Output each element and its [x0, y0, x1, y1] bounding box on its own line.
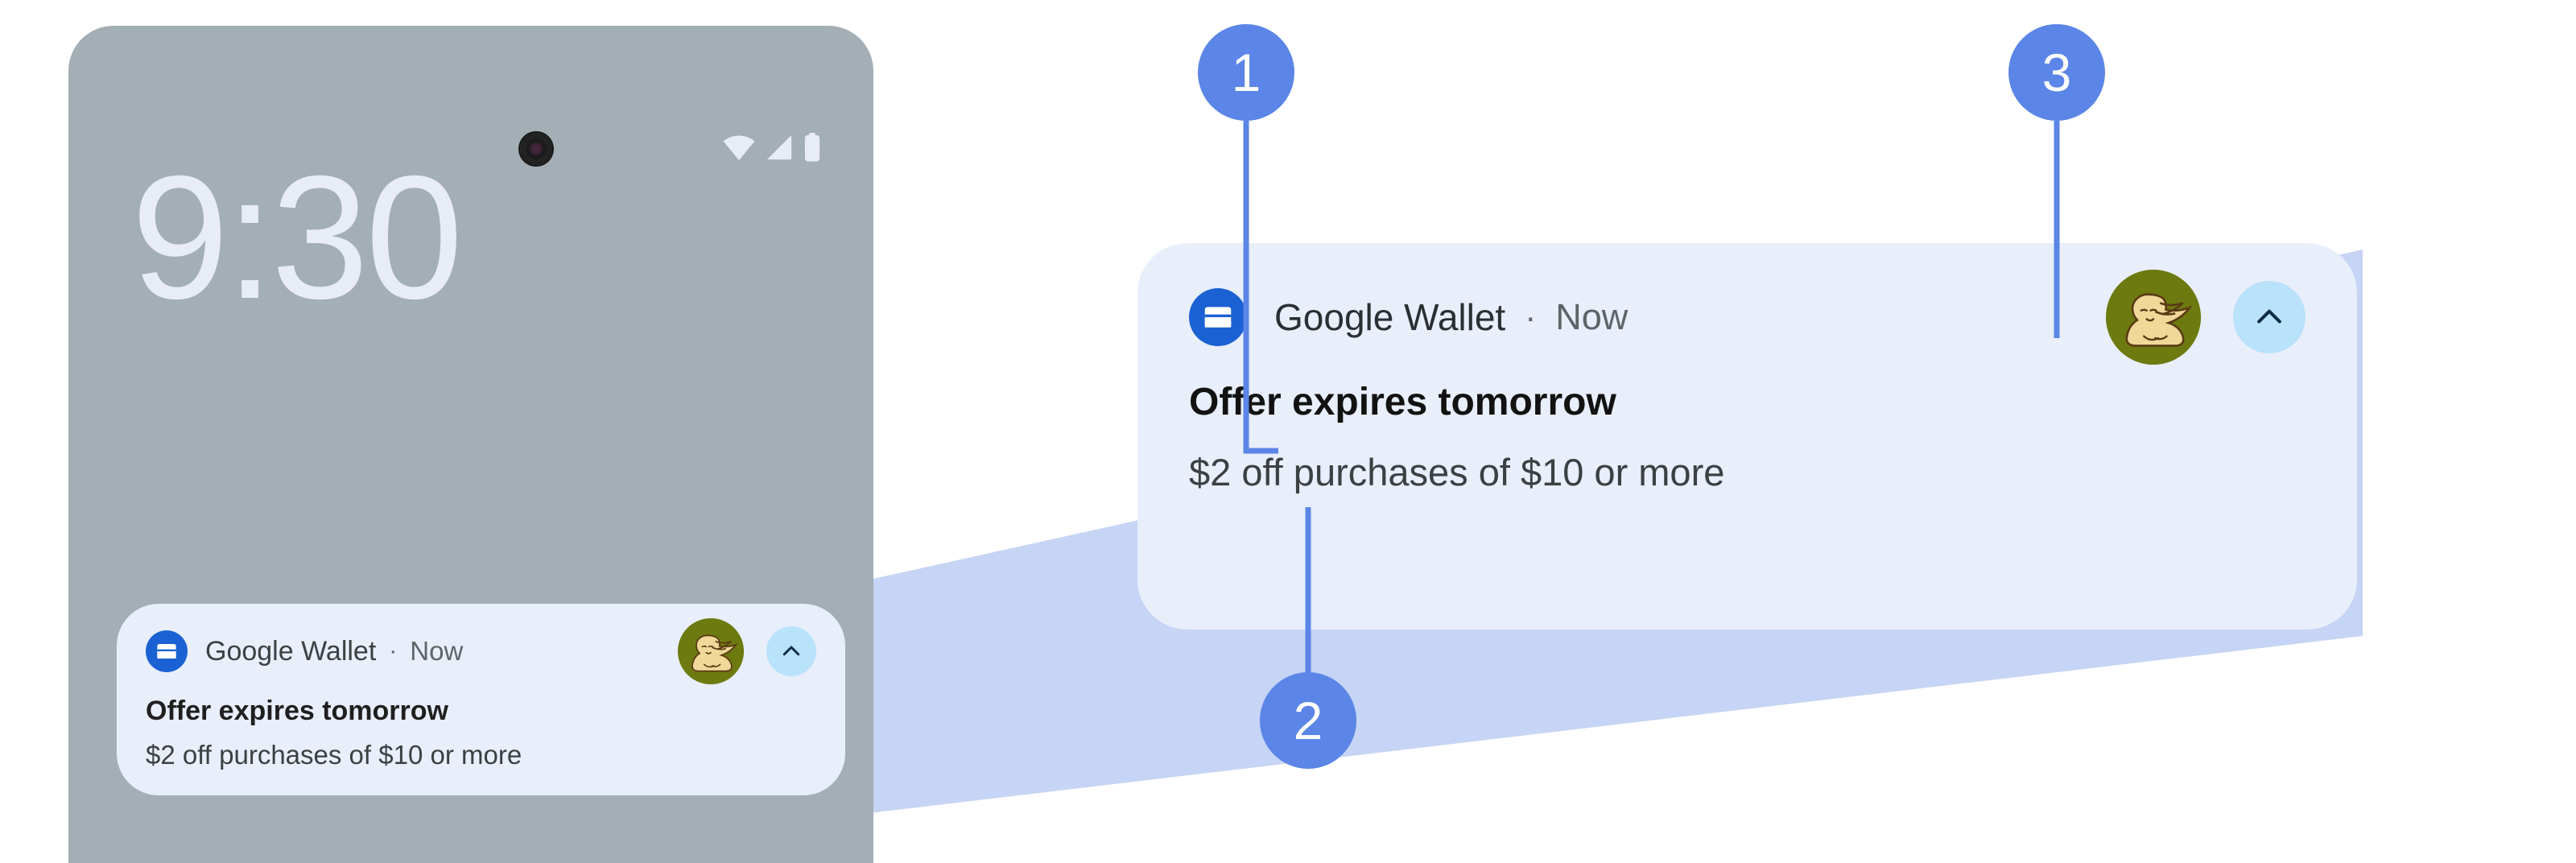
notification-title: Offer expires tomorrow [146, 696, 816, 727]
phone-device: 9:30 Google Wallet · Now [68, 26, 873, 863]
chevron-up-icon [2252, 299, 2287, 335]
notification-header-enlarged: Google Wallet · Now [1189, 287, 2306, 348]
merchant-avatar [678, 618, 744, 684]
notification-timestamp: Now [1555, 296, 1628, 338]
expand-notification-button[interactable] [2233, 281, 2306, 353]
notification-card-enlarged[interactable]: Google Wallet · Now [1137, 243, 2357, 630]
front-camera-punch-hole-icon [520, 133, 552, 165]
notification-timestamp: Now [410, 636, 463, 667]
google-wallet-icon [1189, 288, 1247, 346]
wifi-icon [722, 134, 756, 161]
lock-screen-clock: 9:30 [131, 151, 460, 326]
notification-header-actions [678, 618, 816, 684]
status-bar [722, 132, 822, 163]
expand-notification-button[interactable] [766, 626, 816, 676]
notification-header-actions [2106, 270, 2306, 365]
merchant-avatar [2106, 270, 2201, 365]
notification-separator: · [1525, 300, 1536, 334]
notification-app-name: Google Wallet [205, 636, 376, 667]
cellular-signal-icon [764, 134, 795, 161]
notification-app-name: Google Wallet [1274, 295, 1505, 339]
callout-badge-2[interactable]: 2 [1260, 672, 1356, 769]
notification-separator: · [389, 639, 397, 663]
notification-body: $2 off purchases of $10 or more [146, 740, 816, 770]
callout-badge-3[interactable]: 3 [2008, 24, 2105, 121]
callout-badge-1[interactable]: 1 [1198, 24, 1294, 121]
battery-icon [803, 132, 822, 163]
screenshot-root: 9:30 Google Wallet · Now [0, 0, 2576, 863]
notification-card-small[interactable]: Google Wallet · Now [117, 604, 845, 795]
google-wallet-icon [146, 630, 188, 672]
notification-body: $2 off purchases of $10 or more [1189, 450, 2306, 494]
chevron-up-icon [779, 639, 803, 663]
notification-header: Google Wallet · Now [146, 628, 816, 675]
notification-title: Offer expires tomorrow [1189, 380, 2306, 424]
